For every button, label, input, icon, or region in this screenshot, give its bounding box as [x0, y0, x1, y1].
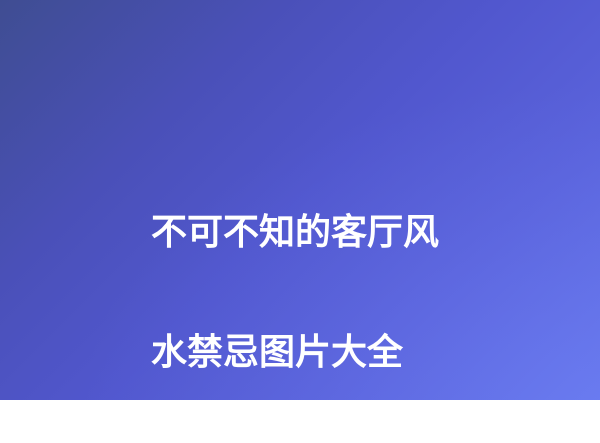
page-title-line-2: 水禁忌图片大全 — [151, 323, 461, 383]
page-title: 不可不知的客厅风 水禁忌图片大全 — [151, 143, 461, 443]
title-card: 不可不知的客厅风 水禁忌图片大全 — [0, 0, 600, 400]
page-title-line-1: 不可不知的客厅风 — [151, 203, 461, 263]
